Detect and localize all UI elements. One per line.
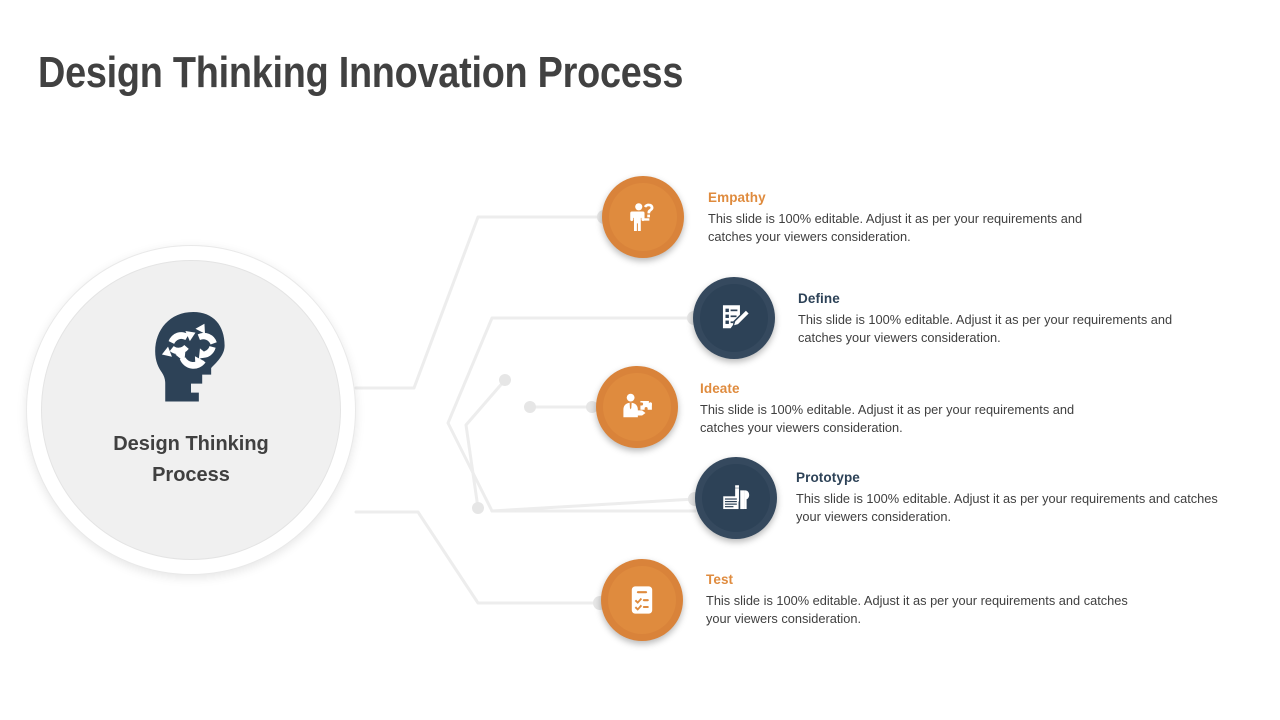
page-title: Design Thinking Innovation Process	[38, 48, 683, 98]
badge-inner-circle	[608, 566, 676, 634]
badge-outer-ring	[695, 457, 777, 539]
step-heading-test: Test	[706, 572, 1166, 587]
blueprint-pencil-icon	[719, 481, 753, 515]
badge-inner-circle	[702, 464, 770, 532]
center-hub[interactable]: Design Thinking Process	[26, 245, 356, 575]
step-heading-define: Define	[798, 291, 1248, 306]
step-body-test: This slide is 100% editable. Adjust it a…	[706, 592, 1166, 628]
head-cycle-icon	[135, 303, 247, 415]
step-heading-prototype: Prototype	[796, 470, 1256, 485]
step-text-prototype: Prototype This slide is 100% editable. A…	[796, 470, 1256, 526]
connector-dot	[499, 374, 511, 386]
step-heading-empathy: Empathy	[708, 190, 1128, 205]
badge-outer-ring	[601, 559, 683, 641]
step-text-ideate: Ideate This slide is 100% editable. Adju…	[700, 381, 1120, 437]
hub-label-line2: Process	[152, 464, 230, 486]
hub-label-line1: Design Thinking	[113, 433, 269, 455]
person-question-icon	[626, 200, 660, 234]
step-text-empathy: Empathy This slide is 100% editable. Adj…	[708, 190, 1128, 246]
step-badge-empathy[interactable]	[602, 176, 684, 258]
badge-outer-ring	[596, 366, 678, 448]
step-badge-test[interactable]	[601, 559, 683, 641]
step-text-test: Test This slide is 100% editable. Adjust…	[706, 572, 1166, 628]
connector-dot	[524, 401, 536, 413]
checklist-document-icon	[625, 583, 659, 617]
badge-inner-circle	[609, 183, 677, 251]
step-badge-prototype[interactable]	[695, 457, 777, 539]
clipboard-pencil-icon	[717, 301, 751, 335]
hub-inner-circle: Design Thinking Process	[41, 260, 341, 560]
step-body-define: This slide is 100% editable. Adjust it a…	[798, 311, 1248, 347]
connector-dot	[472, 502, 484, 514]
step-body-prototype: This slide is 100% editable. Adjust it a…	[796, 490, 1256, 526]
person-puzzle-icon	[620, 390, 654, 424]
connector-test	[356, 512, 600, 603]
badge-inner-circle	[603, 373, 671, 441]
step-badge-define[interactable]	[693, 277, 775, 359]
badge-outer-ring	[693, 277, 775, 359]
badge-inner-circle	[700, 284, 768, 352]
step-heading-ideate: Ideate	[700, 381, 1120, 396]
connector-inner-chevron	[466, 380, 505, 508]
connector-empathy	[356, 217, 604, 388]
step-text-define: Define This slide is 100% editable. Adju…	[798, 291, 1248, 347]
hub-label: Design Thinking Process	[86, 429, 296, 491]
step-body-ideate: This slide is 100% editable. Adjust it a…	[700, 401, 1120, 437]
badge-outer-ring	[602, 176, 684, 258]
step-badge-ideate[interactable]	[596, 366, 678, 448]
connector-prototype	[492, 499, 695, 511]
step-body-empathy: This slide is 100% editable. Adjust it a…	[708, 210, 1128, 246]
